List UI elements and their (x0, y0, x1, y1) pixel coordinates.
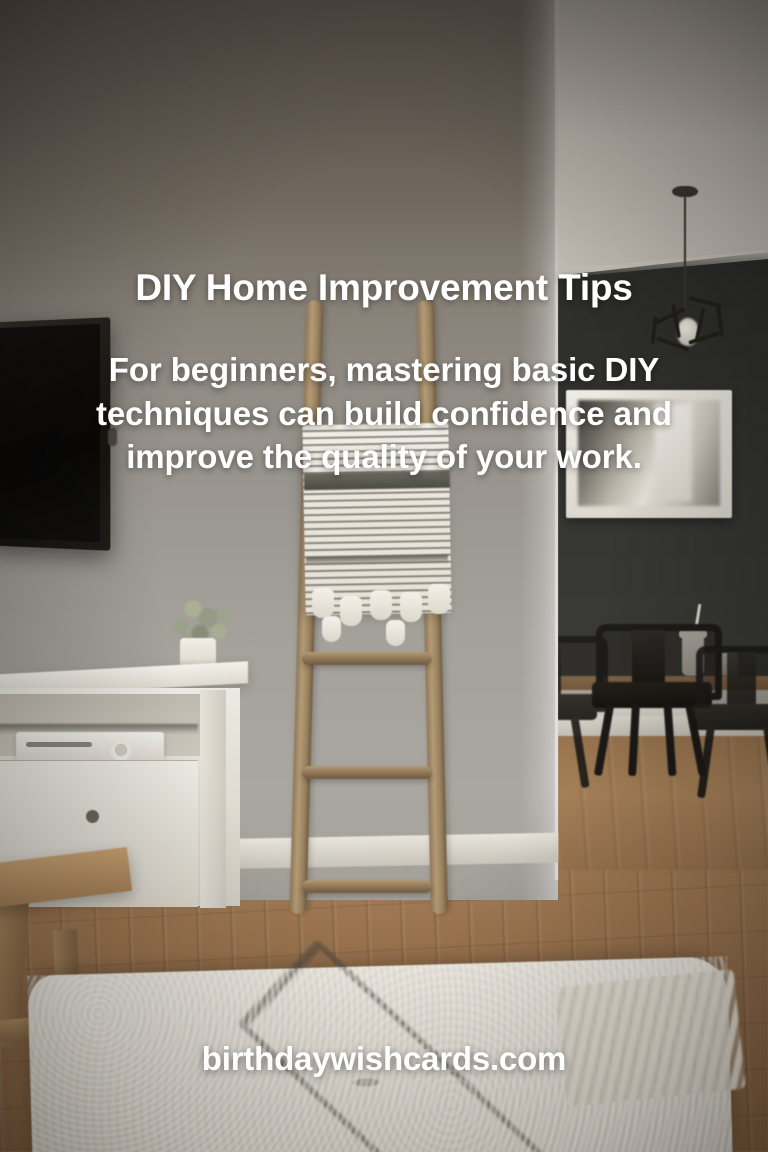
page-title: DIY Home Improvement Tips (40, 268, 728, 307)
website-watermark: birthdaywishcards.com (0, 1040, 768, 1078)
description-text: For beginners, mastering basic DIY techn… (58, 348, 710, 479)
pinterest-pin-card: DIY Home Improvement Tips For beginners,… (0, 0, 768, 1152)
text-overlay: DIY Home Improvement Tips For beginners,… (0, 0, 768, 1152)
